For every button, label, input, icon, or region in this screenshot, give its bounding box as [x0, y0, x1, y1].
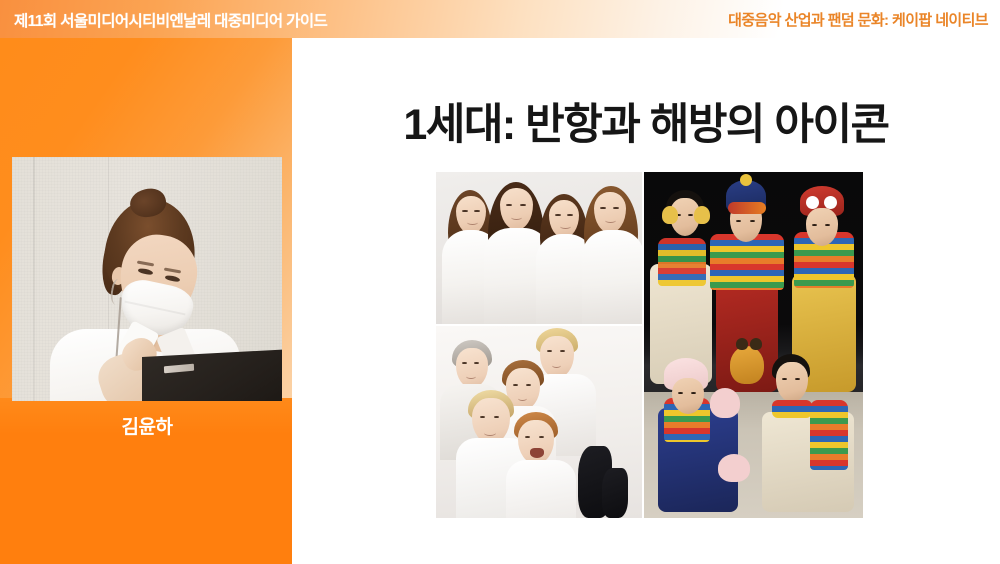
presentation-screenshot: 제11회 서울미디어시티비엔날레 대중미디어 가이드 대중음악 산업과 팬덤 문… — [0, 0, 1000, 564]
presenter-figure — [12, 157, 282, 401]
slide-title: 1세대: 반항과 해방의 아이콘 — [292, 90, 1000, 152]
presenter-webcam-feed[interactable] — [12, 157, 282, 401]
collage-left-column — [436, 172, 642, 518]
header-right-title: 대중음악 산업과 팬덤 문화: 케이팝 네이티브 — [728, 9, 988, 30]
header-left-title: 제11회 서울미디어시티비엔날레 대중미디어 가이드 — [14, 9, 327, 31]
slide-canvas: 1세대: 반항과 해방의 아이콘 — [292, 38, 1000, 548]
photo-girl-group — [436, 172, 642, 324]
photo-boy-group-white — [436, 326, 642, 518]
photo-boy-group-rainbow — [644, 172, 863, 518]
laptop-screen — [142, 349, 282, 401]
photo-collage — [436, 172, 863, 518]
top-header-bar: 제11회 서울미디어시티비엔날레 대중미디어 가이드 대중음악 산업과 팬덤 문… — [0, 0, 1000, 38]
speaker-name-label: 김윤하 — [12, 412, 282, 439]
